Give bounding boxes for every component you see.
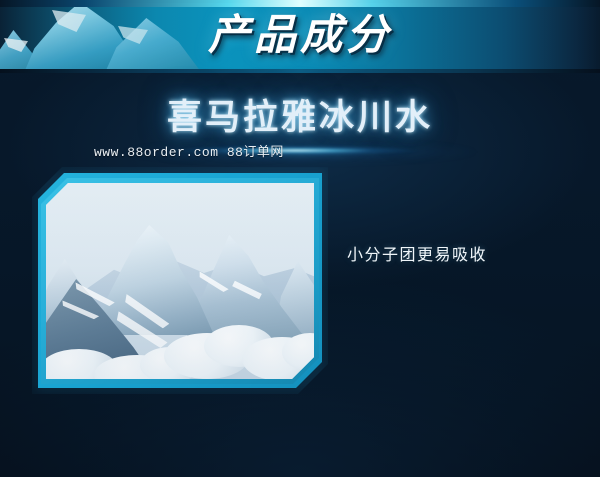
glacier-mountain-photo [46, 183, 314, 379]
banner-bottom-edge [0, 69, 600, 73]
feature-caption: 小分子团更易吸收 [347, 241, 487, 265]
header-banner: 产品成分 [0, 0, 600, 73]
product-ingredient-page: 产品成分 喜马拉雅冰川水 www.88order.com 88订单网 [0, 0, 600, 477]
banner-top-highlight [0, 0, 600, 7]
photo-color-tint [46, 183, 314, 379]
page-title: 喜马拉雅冰川水 [0, 96, 600, 140]
photo-frame [38, 173, 322, 388]
banner-title: 产品成分 [0, 8, 600, 62]
watermark: www.88order.com 88订单网 [94, 141, 284, 160]
